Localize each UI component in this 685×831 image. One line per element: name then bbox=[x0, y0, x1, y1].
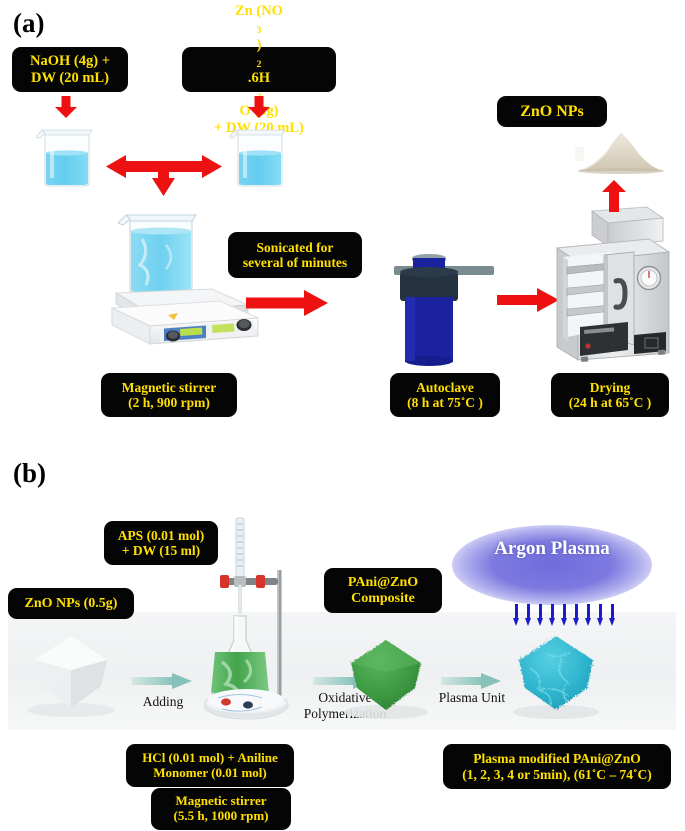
flow-arrow-plasma-unit bbox=[441, 672, 501, 690]
red-arrow-up-to-powder bbox=[602, 180, 626, 212]
tag-naoh-line2: DW (20 mL) bbox=[30, 70, 110, 86]
beaker-naoh-solution bbox=[36, 120, 98, 188]
tag-hcl-aniline-line1: HCl (0.01 mol) + Aniline bbox=[142, 751, 278, 766]
tag-sonicated-line1: Sonicated for bbox=[243, 240, 347, 255]
plasma-ion-arrow bbox=[561, 604, 568, 628]
tag-drying-line1: Drying bbox=[569, 380, 652, 395]
plasma-modified-cyan-polyhedron bbox=[506, 628, 606, 724]
red-arrow-stirrer-to-autoclave bbox=[246, 290, 328, 316]
beaker-zinc-nitrate-solution bbox=[229, 120, 291, 188]
zno-powder-pile bbox=[575, 127, 667, 175]
tag-plasma-modified-line2: (1, 2, 3, 4 or 5min), (61˚C – 74˚C) bbox=[462, 767, 651, 782]
tag-magnetic-stirrer-a-line2: (2 h, 900 rpm) bbox=[122, 395, 217, 410]
argon-plasma-glow bbox=[452, 525, 652, 605]
tag-magnetic-stirrer-b-line1: Magnetic stirrer bbox=[174, 794, 269, 809]
tag-plasma-modified-product: Plasma modified PAni@ZnO (1, 2, 3, 4 or … bbox=[443, 744, 671, 789]
argon-plasma-line1: Argon bbox=[494, 538, 546, 559]
tag-magnetic-stirrer-b-line2: (5.5 h, 1000 rpm) bbox=[174, 809, 269, 824]
plasma-ion-arrow bbox=[537, 604, 544, 628]
magnetic-stirrer-hotplate bbox=[108, 205, 268, 365]
tag-plasma-modified-line1: Plasma modified PAni@ZnO bbox=[462, 751, 651, 766]
tag-aps-line1: APS (0.01 mol) bbox=[118, 528, 205, 543]
flow-label-adding: Adding bbox=[128, 694, 198, 710]
tag-zno-nps-input-line1: ZnO NPs (0.5g) bbox=[25, 596, 118, 612]
panel-a-label: (a) bbox=[13, 8, 44, 39]
plasma-ion-arrow bbox=[597, 604, 604, 628]
plasma-ion-arrow bbox=[549, 604, 556, 628]
tag-magnetic-stirrer-a-line1: Magnetic stirrer bbox=[122, 380, 217, 395]
reaction-flask-with-burette-and-stirrer bbox=[204, 512, 312, 724]
tag-sonicated-line2: several of minutes bbox=[243, 255, 347, 270]
plasma-ion-arrow bbox=[609, 604, 616, 628]
tag-autoclave-line1: Autoclave bbox=[407, 380, 483, 395]
tag-hcl-aniline-line2: Monomer (0.01 mol) bbox=[142, 766, 278, 781]
tag-zno-nps-product: ZnO NPs bbox=[497, 96, 607, 127]
drying-oven bbox=[548, 205, 673, 365]
plasma-ion-arrow bbox=[585, 604, 592, 628]
tag-composite-line1: PAni@ZnO bbox=[348, 575, 418, 591]
tag-zinc-nitrate-reagent: Zn (NO3)2.6H2O (3g) + DW (20 mL) bbox=[182, 47, 336, 92]
tag-autoclave-line2: (8 h at 75˚C ) bbox=[407, 395, 483, 410]
red-double-arrow-mixing bbox=[106, 152, 222, 196]
argon-plasma-line2: Plasma bbox=[551, 538, 610, 559]
autoclave-vessel bbox=[392, 245, 496, 367]
tag-zno-nps-line1: ZnO NPs bbox=[520, 103, 584, 121]
plasma-ion-arrow bbox=[573, 604, 580, 628]
tag-autoclave: Autoclave (8 h at 75˚C ) bbox=[390, 373, 500, 417]
plasma-ion-arrows bbox=[513, 604, 616, 628]
flow-label-plasma-unit-line2: Unit bbox=[481, 690, 505, 705]
argon-plasma-label: Argon Plasma bbox=[452, 538, 652, 559]
red-arrow-down-to-right-beaker bbox=[248, 96, 270, 118]
zno-nanoparticle-white-polyhedron bbox=[22, 630, 120, 722]
plasma-ion-arrow bbox=[513, 604, 520, 628]
tag-magnetic-stirrer-b: Magnetic stirrer (5.5 h, 1000 rpm) bbox=[151, 788, 291, 830]
tag-naoh-line1: NaOH (4g) + bbox=[30, 53, 110, 69]
pani-zno-composite-green-polyhedron bbox=[338, 632, 434, 724]
tag-naoh-reagent: NaOH (4g) + DW (20 mL) bbox=[12, 47, 128, 92]
tag-pani-zno-composite: PAni@ZnO Composite bbox=[324, 568, 442, 613]
plasma-ion-arrow bbox=[525, 604, 532, 628]
tag-drying-line2: (24 h at 65˚C ) bbox=[569, 395, 652, 410]
flow-label-adding-line1: Adding bbox=[143, 694, 184, 709]
flow-label-plasma-unit-line1: Plasma bbox=[439, 690, 478, 705]
tag-aps-reagent: APS (0.01 mol) + DW (15 ml) bbox=[104, 521, 218, 565]
panel-b-label: (b) bbox=[13, 458, 46, 489]
tag-zno-nps-input: ZnO NPs (0.5g) bbox=[8, 588, 134, 619]
tag-sonicated: Sonicated for several of minutes bbox=[228, 232, 362, 278]
flow-arrow-adding bbox=[132, 672, 192, 690]
flow-label-plasma-unit: Plasma Unit bbox=[437, 690, 507, 706]
tag-drying: Drying (24 h at 65˚C ) bbox=[551, 373, 669, 417]
red-arrow-down-to-left-beaker bbox=[55, 96, 77, 118]
tag-aps-line2: + DW (15 ml) bbox=[118, 543, 205, 558]
tag-magnetic-stirrer-a: Magnetic stirrer (2 h, 900 rpm) bbox=[101, 373, 237, 417]
tag-hcl-aniline: HCl (0.01 mol) + Aniline Monomer (0.01 m… bbox=[126, 744, 294, 787]
tag-composite-line2: Composite bbox=[348, 591, 418, 607]
